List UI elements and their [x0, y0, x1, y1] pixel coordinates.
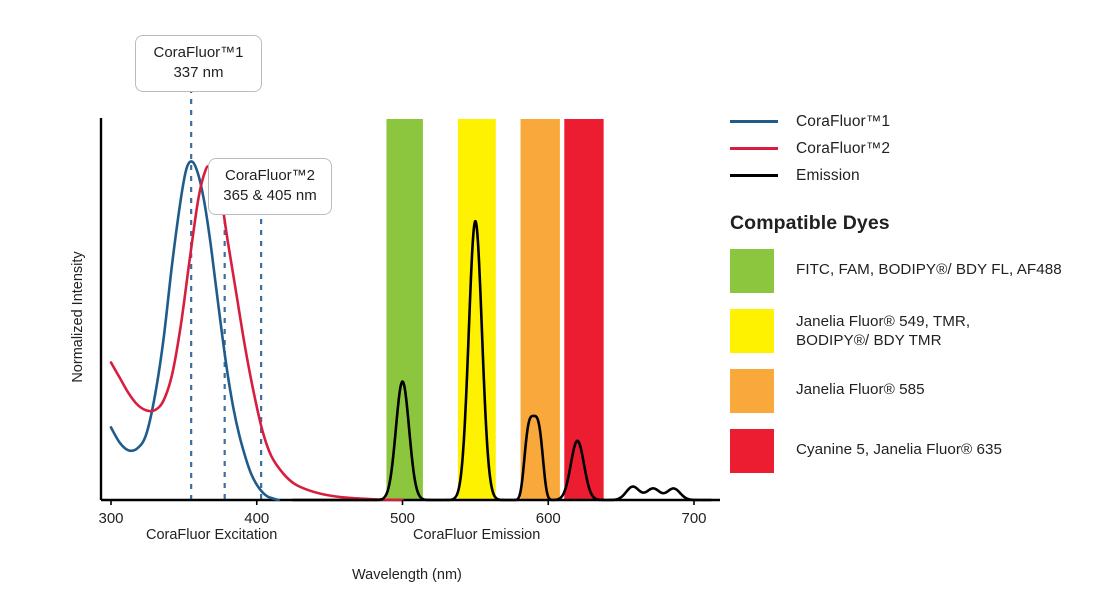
legend-item-2: Emission — [730, 162, 1100, 189]
y-axis-title-group: Normalized Intensity — [70, 251, 86, 383]
dye-label: Cyanine 5, Janelia Fluor® 635 — [796, 429, 1002, 459]
legend-line-label: Emission — [796, 167, 860, 185]
x-tick-label-300: 300 — [98, 510, 123, 527]
legend-line-swatch — [730, 147, 778, 150]
dye-label-line1: Janelia Fluor® 549, TMR, — [796, 312, 970, 331]
dye-item-0: FITC, FAM, BODIPY®/ BDY FL, AF488 — [730, 249, 1100, 293]
legend-line-label: CoraFluor™1 — [796, 113, 890, 131]
callout-cf2-line2: 365 & 405 nm — [223, 186, 317, 206]
dye-label: Janelia Fluor® 549, TMR,BODIPY®/ BDY TMR — [796, 309, 970, 350]
legend-series-list: CoraFluor™1CoraFluor™2Emission — [730, 108, 1100, 189]
excitation-marker-lines — [191, 88, 261, 500]
dye-color-swatch — [730, 309, 774, 353]
legend-line-swatch — [730, 174, 778, 177]
callout-cf1-line2: 337 nm — [150, 63, 247, 83]
x-tick-label-400: 400 — [244, 510, 269, 527]
dye-band-group — [386, 119, 603, 500]
dye-label: FITC, FAM, BODIPY®/ BDY FL, AF488 — [796, 249, 1062, 279]
chart-figure: 300400500600700 Normalized Intensity Cor… — [0, 0, 1110, 612]
x-axis-ticks: 300400500600700 — [98, 500, 706, 527]
dye-label-line1: FITC, FAM, BODIPY®/ BDY FL, AF488 — [796, 260, 1062, 279]
dye-item-1: Janelia Fluor® 549, TMR,BODIPY®/ BDY TMR — [730, 309, 1100, 353]
dye-label-line1: Janelia Fluor® 585 — [796, 380, 925, 399]
callout-cf2-line1: CoraFluor™2 — [223, 166, 317, 186]
legend-line-swatch — [730, 120, 778, 123]
x-tick-label-600: 600 — [536, 510, 561, 527]
dye-label-line1: Cyanine 5, Janelia Fluor® 635 — [796, 440, 1002, 459]
legend-panel: CoraFluor™1CoraFluor™2Emission Compatibl… — [730, 108, 1100, 489]
red-band — [564, 119, 603, 500]
legend-item-1: CoraFluor™2 — [730, 135, 1100, 162]
dye-color-swatch — [730, 249, 774, 293]
dye-color-swatch — [730, 369, 774, 413]
dye-label-line2: BODIPY®/ BDY TMR — [796, 331, 970, 350]
x-axis-title: Wavelength (nm) — [352, 567, 462, 583]
x-tick-label-500: 500 — [390, 510, 415, 527]
callout-cf1-line1: CoraFluor™1 — [150, 43, 247, 63]
callout-corafluor-1: CoraFluor™1 337 nm — [135, 35, 262, 92]
callout-corafluor-2: CoraFluor™2 365 & 405 nm — [208, 158, 332, 215]
emission-region-label: CoraFluor Emission — [413, 527, 540, 543]
x-tick-label-700: 700 — [681, 510, 706, 527]
dye-item-2: Janelia Fluor® 585 — [730, 369, 1100, 413]
compatible-dyes-list: FITC, FAM, BODIPY®/ BDY FL, AF488Janelia… — [730, 249, 1100, 473]
dye-label: Janelia Fluor® 585 — [796, 369, 925, 399]
dye-item-3: Cyanine 5, Janelia Fluor® 635 — [730, 429, 1100, 473]
y-axis-title: Normalized Intensity — [70, 251, 86, 383]
curve-emission — [293, 221, 711, 500]
excitation-region-label: CoraFluor Excitation — [146, 527, 277, 543]
compatible-dyes-title: Compatible Dyes — [730, 212, 1100, 235]
legend-line-label: CoraFluor™2 — [796, 140, 890, 158]
green-band — [386, 119, 422, 500]
legend-item-0: CoraFluor™1 — [730, 108, 1100, 135]
curve-corafluor-2 — [111, 166, 403, 500]
dye-color-swatch — [730, 429, 774, 473]
